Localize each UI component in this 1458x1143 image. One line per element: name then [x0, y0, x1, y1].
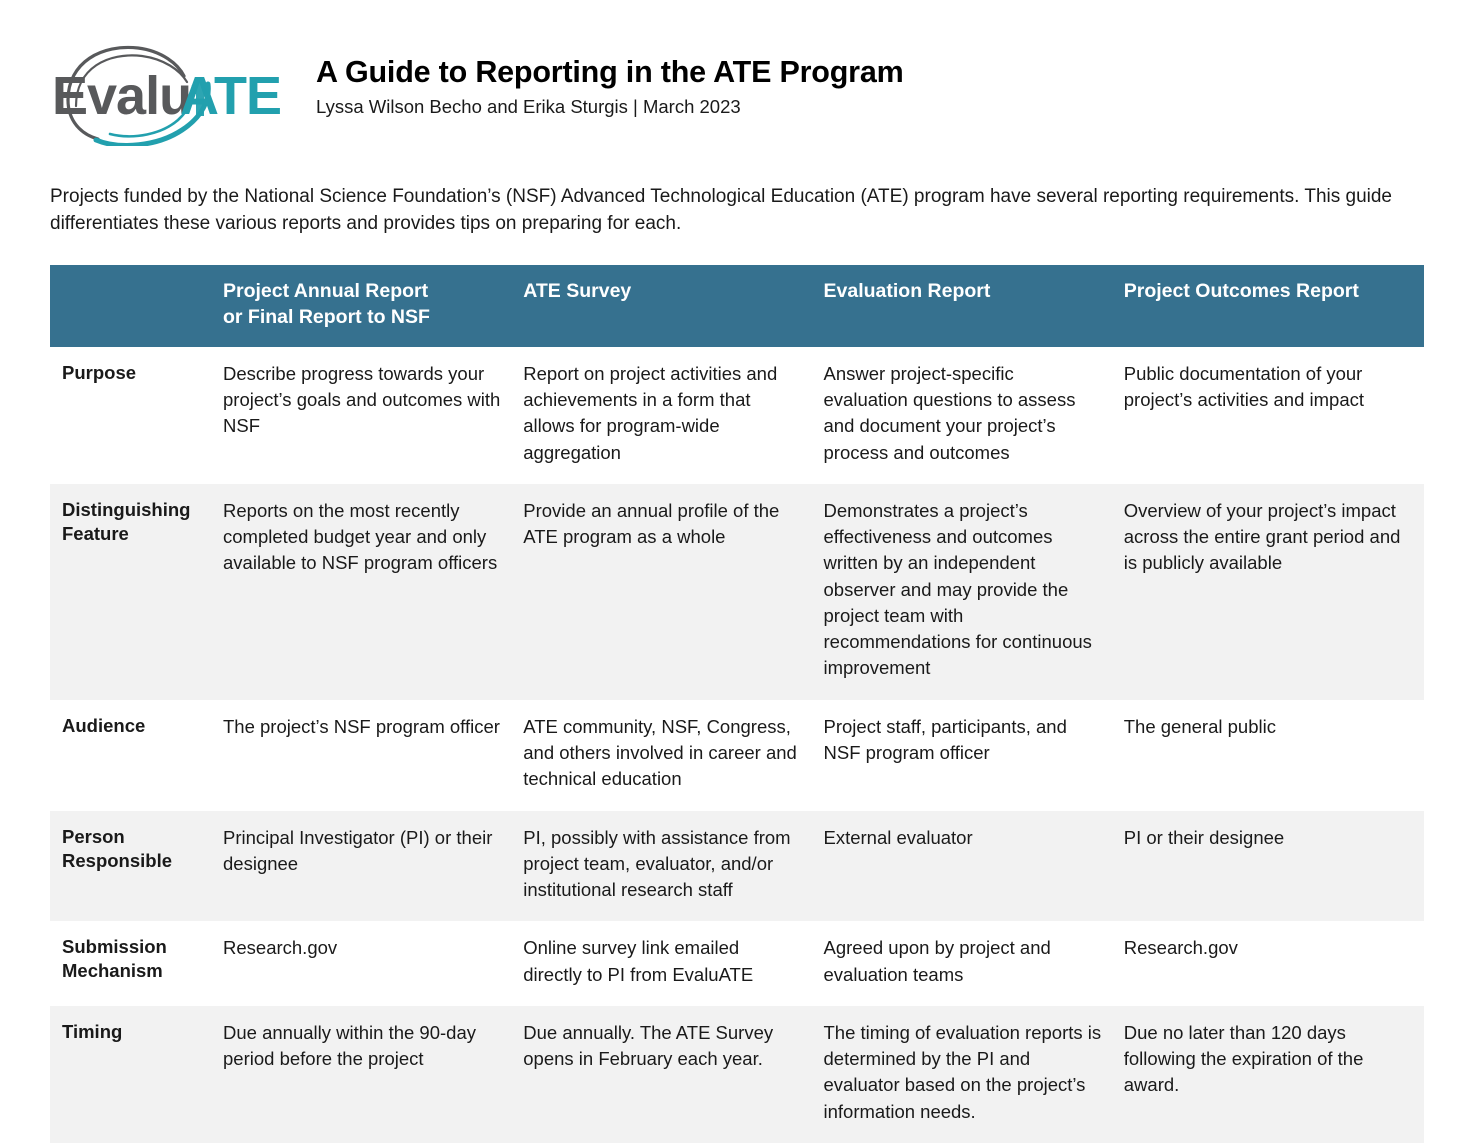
cell-distinguishing-feature-project-outcomes-report: Overview of your project’s impact across… — [1124, 484, 1424, 700]
title-block: A Guide to Reporting in the ATE Program … — [300, 40, 904, 117]
cell-audience-ate-survey: ATE community, NSF, Congress, and others… — [523, 700, 823, 811]
cell-timing-ate-survey: Due annually. The ATE Survey opens in Fe… — [523, 1006, 823, 1143]
cell-audience-evaluation-report: Project staff, participants, and NSF pro… — [824, 700, 1124, 811]
document-page: Evalu ATE A Guide to Reporting in the AT… — [0, 0, 1458, 1088]
table-row: Timing Due annually within the 90-day pe… — [50, 1006, 1424, 1143]
row-label-line2: Feature — [62, 523, 129, 544]
cell-submission-mechanism-project-annual-report: Research.gov — [223, 921, 523, 1006]
cell-purpose-evaluation-report: Answer project-specific evaluation quest… — [824, 347, 1124, 484]
cell-timing-evaluation-report: The timing of evaluation reports is dete… — [824, 1006, 1124, 1143]
row-label-audience: Audience — [50, 700, 223, 811]
row-label-line2: Mechanism — [62, 960, 163, 981]
cell-purpose-project-annual-report: Describe progress towards your project’s… — [223, 347, 523, 484]
row-label-line1: Audience — [62, 715, 145, 736]
cell-timing-project-outcomes-report: Due no later than 120 days following the… — [1124, 1006, 1424, 1143]
cell-submission-mechanism-project-outcomes-report: Research.gov — [1124, 921, 1424, 1006]
column-header-line1: Project Annual Report — [223, 279, 507, 305]
table-row: Audience The project’s NSF program offic… — [50, 700, 1424, 811]
column-header-ate-survey: ATE Survey — [523, 265, 823, 347]
column-header-line1: Project Outcomes Report — [1124, 279, 1408, 305]
table-row: Distinguishing Feature Reports on the mo… — [50, 484, 1424, 700]
cell-timing-project-annual-report: Due annually within the 90-day period be… — [223, 1006, 523, 1143]
column-header-line2: or Final Report to NSF — [223, 305, 507, 331]
table-header-row: Project Annual Report or Final Report to… — [50, 265, 1424, 347]
row-label-line1: Purpose — [62, 362, 136, 383]
row-label-purpose: Purpose — [50, 347, 223, 484]
cell-audience-project-annual-report: The project’s NSF program officer — [223, 700, 523, 811]
column-header-evaluation-report: Evaluation Report — [824, 265, 1124, 347]
document-header: Evalu ATE A Guide to Reporting in the AT… — [0, 0, 1458, 118]
row-label-line1: Submission — [62, 936, 167, 957]
cell-person-responsible-project-annual-report: Principal Investigator (PI) or their des… — [223, 811, 523, 922]
column-header-project-annual-report: Project Annual Report or Final Report to… — [223, 265, 523, 347]
intro-paragraph: Projects funded by the National Science … — [0, 184, 1458, 238]
cell-person-responsible-ate-survey: PI, possibly with assistance from projec… — [523, 811, 823, 922]
cell-audience-project-outcomes-report: The general public — [1124, 700, 1424, 811]
cell-person-responsible-evaluation-report: External evaluator — [824, 811, 1124, 922]
row-label-person-responsible: Person Responsible — [50, 811, 223, 922]
row-label-line1: Distinguishing — [62, 499, 190, 520]
cell-submission-mechanism-ate-survey: Online survey link emailed directly to P… — [523, 921, 823, 1006]
column-header-line1: Evaluation Report — [824, 279, 1108, 305]
cell-distinguishing-feature-ate-survey: Provide an annual profile of the ATE pro… — [523, 484, 823, 700]
row-label-line1: Person — [62, 826, 125, 847]
evaluate-logo-icon: Evalu ATE — [50, 42, 282, 146]
table-header: Project Annual Report or Final Report to… — [50, 265, 1424, 347]
page-title: A Guide to Reporting in the ATE Program — [316, 56, 904, 90]
table-body: Purpose Describe progress towards your p… — [50, 347, 1424, 1143]
column-header-line1: ATE Survey — [523, 279, 807, 305]
reports-comparison-table-wrap: Project Annual Report or Final Report to… — [0, 265, 1458, 1143]
row-label-line1: Timing — [62, 1021, 122, 1042]
svg-text:ATE: ATE — [180, 66, 281, 126]
byline: Lyssa Wilson Becho and Erika Sturgis | M… — [316, 96, 904, 117]
row-label-submission-mechanism: Submission Mechanism — [50, 921, 223, 1006]
row-label-line2: Responsible — [62, 850, 172, 871]
cell-distinguishing-feature-evaluation-report: Demonstrates a project’s effectiveness a… — [824, 484, 1124, 700]
evaluate-logo: Evalu ATE — [50, 40, 300, 146]
column-header-project-outcomes-report: Project Outcomes Report — [1124, 265, 1424, 347]
row-label-timing: Timing — [50, 1006, 223, 1143]
column-header-blank — [50, 265, 223, 347]
reports-comparison-table: Project Annual Report or Final Report to… — [50, 265, 1424, 1143]
cell-purpose-ate-survey: Report on project activities and achieve… — [523, 347, 823, 484]
table-row: Purpose Describe progress towards your p… — [50, 347, 1424, 484]
table-row: Person Responsible Principal Investigato… — [50, 811, 1424, 922]
svg-text:Evalu: Evalu — [52, 66, 191, 126]
row-label-distinguishing-feature: Distinguishing Feature — [50, 484, 223, 700]
table-row: Submission Mechanism Research.gov Online… — [50, 921, 1424, 1006]
cell-person-responsible-project-outcomes-report: PI or their designee — [1124, 811, 1424, 922]
cell-distinguishing-feature-project-annual-report: Reports on the most recently completed b… — [223, 484, 523, 700]
cell-purpose-project-outcomes-report: Public documentation of your project’s a… — [1124, 347, 1424, 484]
cell-submission-mechanism-evaluation-report: Agreed upon by project and evaluation te… — [824, 921, 1124, 1006]
